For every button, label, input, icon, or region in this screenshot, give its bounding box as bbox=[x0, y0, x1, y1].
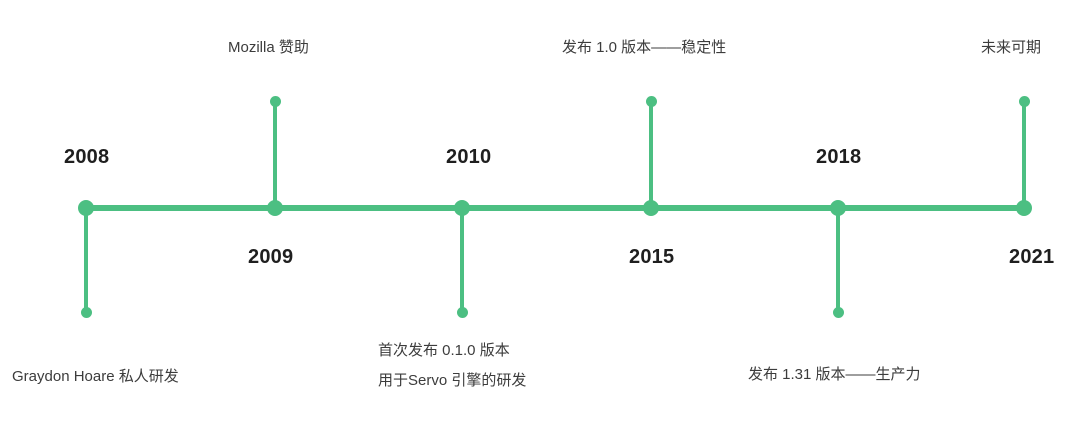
year-label-2015: 2015 bbox=[629, 246, 674, 269]
event-label-2009: Mozilla 赞助 bbox=[228, 33, 309, 63]
node-2009[interactable] bbox=[267, 200, 283, 216]
year-label-2021: 2021 bbox=[1009, 246, 1054, 269]
node-tip-2021 bbox=[1019, 96, 1030, 107]
node-2018[interactable] bbox=[830, 200, 846, 216]
node-2008[interactable] bbox=[78, 200, 94, 216]
event-label-2015-line1: 发布 1.0 版本——稳定性 bbox=[562, 39, 726, 56]
event-label-2010-line2: 用于Servo 引擎的研发 bbox=[378, 366, 526, 396]
event-label-2008: Graydon Hoare 私人研发 bbox=[12, 362, 179, 392]
event-label-2021-line1: 未来可期 bbox=[981, 39, 1041, 56]
event-label-2021: 未来可期 bbox=[981, 33, 1041, 63]
node-tip-2015 bbox=[646, 96, 657, 107]
node-2010[interactable] bbox=[454, 200, 470, 216]
year-label-2009: 2009 bbox=[248, 246, 293, 269]
event-label-2009-line1: Mozilla 赞助 bbox=[228, 39, 309, 56]
year-label-2010: 2010 bbox=[446, 146, 491, 169]
stem-2021 bbox=[1022, 103, 1026, 210]
timeline-diagram: 2008 Graydon Hoare 私人研发 2009 Mozilla 赞助 … bbox=[0, 0, 1080, 422]
node-2015[interactable] bbox=[643, 200, 659, 216]
event-label-2015: 发布 1.0 版本——稳定性 bbox=[562, 33, 726, 63]
node-tip-2018 bbox=[833, 307, 844, 318]
stem-2018 bbox=[836, 208, 840, 313]
event-label-2008-line1: Graydon Hoare 私人研发 bbox=[12, 368, 179, 385]
stem-2008 bbox=[84, 208, 88, 313]
stem-2010 bbox=[460, 208, 464, 313]
year-label-2008: 2008 bbox=[64, 146, 109, 169]
node-tip-2009 bbox=[270, 96, 281, 107]
node-tip-2008 bbox=[81, 307, 92, 318]
node-2021[interactable] bbox=[1016, 200, 1032, 216]
timeline-axis-line bbox=[86, 205, 1024, 211]
event-label-2018-line1: 发布 1.31 版本——生产力 bbox=[748, 366, 921, 383]
event-label-2018: 发布 1.31 版本——生产力 bbox=[748, 360, 921, 390]
stem-2015 bbox=[649, 103, 653, 210]
year-label-2018: 2018 bbox=[816, 146, 861, 169]
event-label-2010: 首次发布 0.1.0 版本 用于Servo 引擎的研发 bbox=[378, 336, 526, 396]
stem-2009 bbox=[273, 103, 277, 210]
node-tip-2010 bbox=[457, 307, 468, 318]
event-label-2010-line1: 首次发布 0.1.0 版本 bbox=[378, 342, 510, 359]
